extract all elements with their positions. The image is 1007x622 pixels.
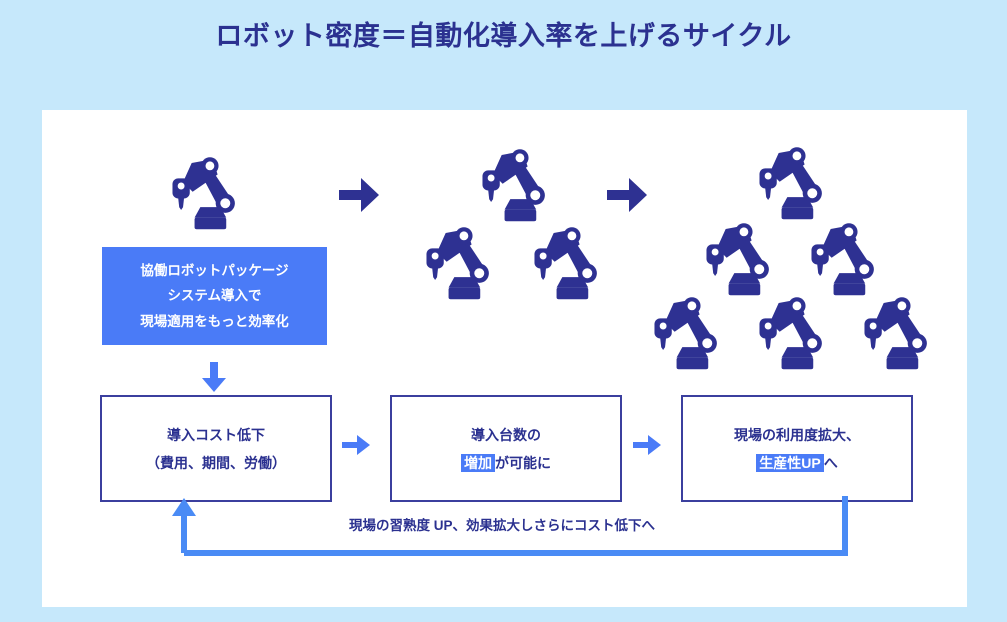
industrial-robot-arm-icon [414, 208, 510, 304]
robot-cluster-1 [152, 138, 272, 238]
flow-box-cost: 導入コスト低下 （費用、期間、労働） [100, 395, 332, 502]
industrial-robot-arm-icon [160, 138, 256, 234]
flow-box-units: 導入台数の 増加が可能に [390, 395, 622, 502]
callout-line-3: 現場適用をもっと効率化 [140, 309, 289, 335]
robot-cluster-3 [642, 128, 962, 373]
flow-box-productivity-line1: 現場の利用度拡大、 [734, 421, 860, 449]
arrow-right-icon [604, 173, 650, 217]
flow-box-productivity: 現場の利用度拡大、 生産性UPへ [681, 395, 913, 502]
callout-box: 協働ロボットパッケージ システム導入で 現場適用をもっと効率化 [102, 247, 327, 345]
arrow-right-icon [336, 173, 382, 217]
page-title: ロボット密度＝自動化導入率を上げるサイクル [0, 14, 1007, 53]
flow-box-productivity-line2: 生産性UPへ [756, 449, 837, 477]
arrow-right-icon [341, 432, 371, 458]
highlight-productivity-up: 生産性UP [756, 454, 823, 472]
industrial-robot-arm-icon [642, 278, 738, 374]
highlight-increase: 増加 [461, 454, 495, 472]
robot-cluster-2 [412, 130, 632, 310]
industrial-robot-arm-icon [747, 278, 843, 374]
arrow-right-icon [632, 432, 662, 458]
flow-box-cost-line1: 導入コスト低下 [167, 421, 265, 449]
flow-box-units-line1: 導入台数の [471, 421, 541, 449]
flow-box-units-tail: が可能に [495, 455, 551, 471]
callout-line-1: 協働ロボットパッケージ [140, 258, 288, 284]
callout-line-2: システム導入で [167, 283, 261, 309]
feedback-label: 現場の習熟度 UP、効果拡大しさらにコスト低下へ [242, 514, 762, 534]
flow-box-productivity-tail: へ [824, 455, 838, 471]
industrial-robot-arm-icon [522, 208, 618, 304]
industrial-robot-arm-icon [852, 278, 948, 374]
flow-box-cost-line2: （費用、期間、労働） [146, 449, 286, 477]
diagram-card: 協働ロボットパッケージ システム導入で 現場適用をもっと効率化 導入コスト低下 … [42, 110, 967, 607]
flow-box-units-line2: 増加が可能に [461, 449, 551, 477]
arrow-down-icon [197, 360, 231, 394]
